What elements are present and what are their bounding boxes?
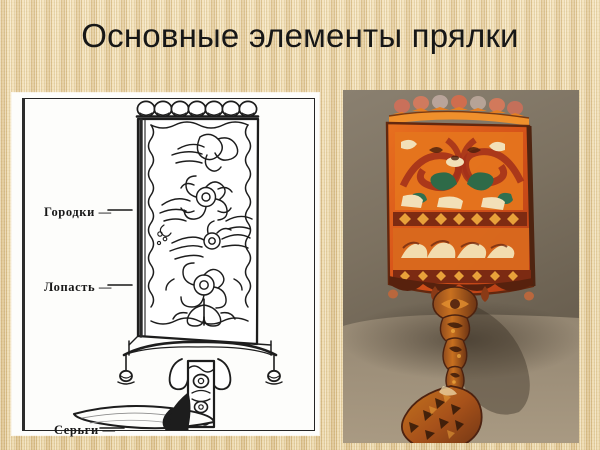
page-title: Основные элементы прялки <box>0 16 600 56</box>
distaff-photo <box>343 90 579 443</box>
slide-canvas: Основные элементы прялки <box>0 0 600 450</box>
label-seryogi: Серьги — <box>54 423 116 438</box>
photo-lopast <box>387 123 534 302</box>
gorodki-knobs <box>137 101 256 116</box>
diagram-panel: Городки — Лопасть — Серьги — Ножка — Дон… <box>12 93 319 435</box>
distaff-line-drawing <box>12 93 319 435</box>
painted-distaff-illustration <box>343 90 579 443</box>
label-lopast: Лопасть — <box>44 280 112 295</box>
label-gorodki: Городки — <box>44 205 112 220</box>
blade-diamond-band <box>393 212 527 226</box>
